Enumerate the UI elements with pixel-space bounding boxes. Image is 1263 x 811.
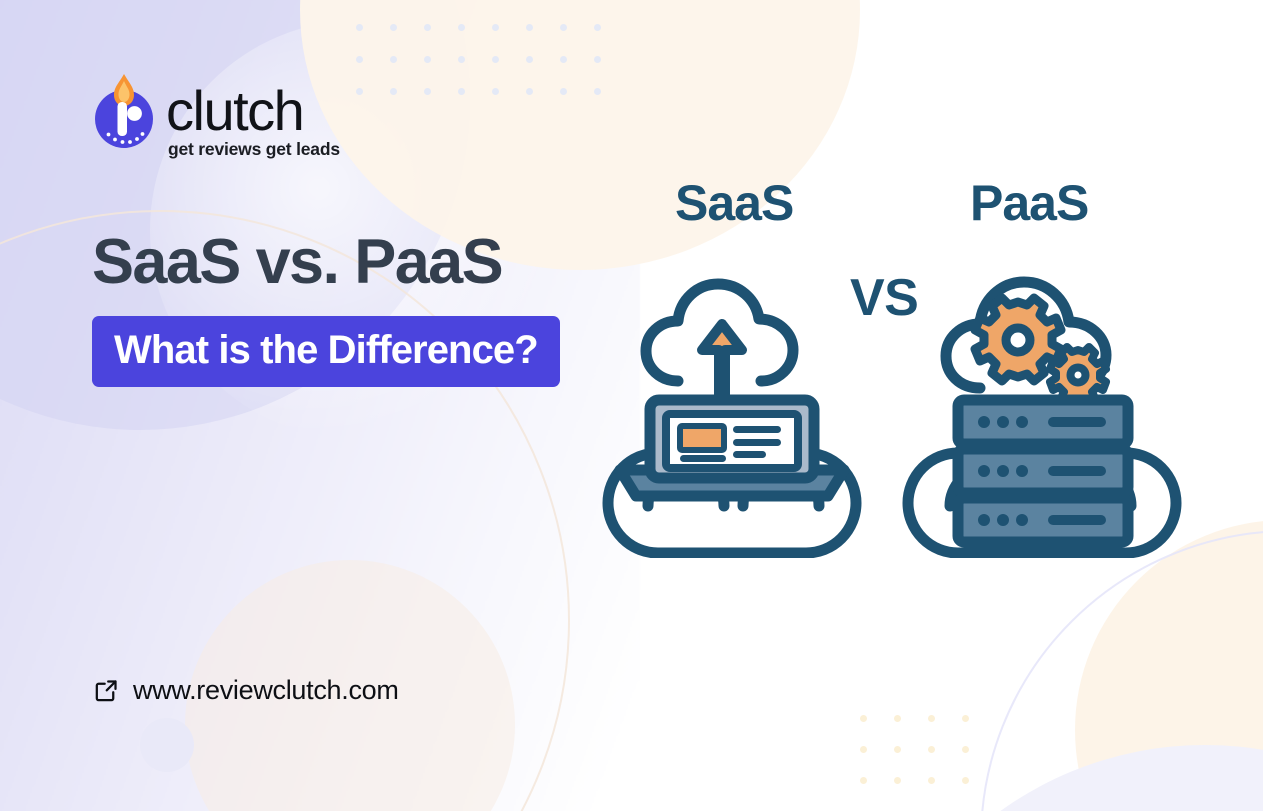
subtitle-text: What is the Difference? <box>114 330 538 370</box>
brand-logo[interactable]: clutch get reviews get leads <box>92 72 340 160</box>
illustration-label-paas: PaaS <box>970 178 1088 228</box>
website-url[interactable]: www.reviewclutch.com <box>93 675 399 706</box>
background-small-lavender-dot <box>140 718 194 772</box>
background-arc-lavender <box>980 530 1263 811</box>
illustration-label-saas: SaaS <box>675 178 793 228</box>
paas-graphic <box>900 238 1190 558</box>
saas-paas-illustration: SaaS PaaS VS <box>600 160 1220 570</box>
subtitle-badge: What is the Difference? <box>92 316 560 387</box>
logo-tagline: get reviews get leads <box>168 139 340 160</box>
server-rack-icon <box>958 400 1128 542</box>
page-title: SaaS vs. PaaS <box>92 230 502 294</box>
upload-arrow-icon <box>702 324 742 401</box>
website-url-text: www.reviewclutch.com <box>133 675 399 706</box>
external-link-icon <box>93 677 120 704</box>
clutch-flame-logo-icon <box>92 72 156 150</box>
saas-graphic <box>600 238 882 558</box>
poster-canvas: clutch get reviews get leads SaaS vs. Pa… <box>0 0 1263 811</box>
brand-logo-text: clutch get reviews get leads <box>166 72 340 160</box>
logo-wordmark: clutch <box>166 85 340 137</box>
